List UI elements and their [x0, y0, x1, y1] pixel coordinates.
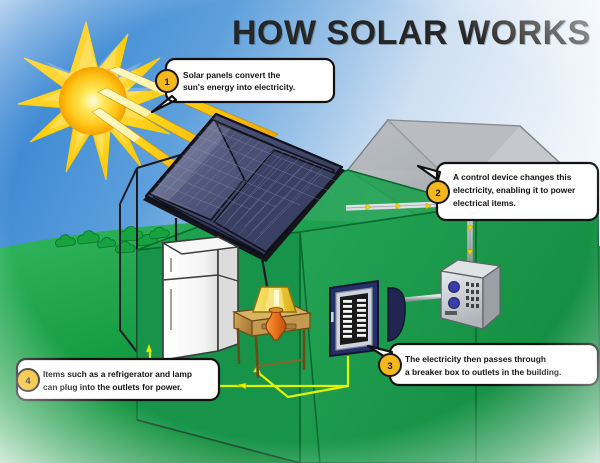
infographic-canvas: HOW SOLAR WORKS HOW SOLAR WORKS 1 Solar … — [0, 0, 600, 463]
edge-vignette — [0, 0, 600, 463]
